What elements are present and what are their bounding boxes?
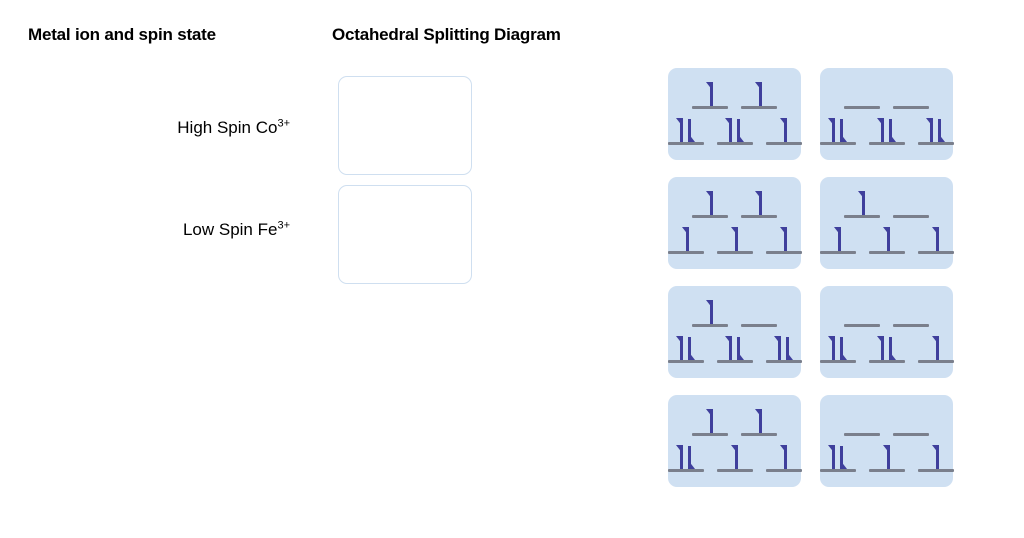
eg-orbital-row — [690, 190, 779, 218]
orbital-t2g-1 — [867, 117, 907, 145]
electron-group — [715, 335, 755, 360]
up-arrow-icon — [681, 227, 692, 251]
t2g-orbital-row — [818, 117, 956, 145]
up-arrow-icon — [705, 300, 716, 324]
orbital-t2g-2 — [916, 335, 956, 363]
orbital-t2g-1 — [715, 444, 755, 472]
orbital-eg-0 — [690, 81, 730, 109]
orbital-t2g-1 — [715, 226, 755, 254]
orbital-t2g-0 — [818, 117, 858, 145]
orbital-t2g-1 — [867, 444, 907, 472]
orbital-eg-0 — [842, 299, 882, 327]
empty-orbital-line-icon — [893, 215, 929, 218]
orbital-t2g-0 — [666, 444, 706, 472]
empty-orbital-line-icon — [820, 469, 856, 472]
empty-orbital-line-icon — [893, 433, 929, 436]
electron-group — [818, 226, 858, 251]
electron-group — [916, 226, 956, 251]
empty-orbital-line-icon — [717, 142, 753, 145]
orbital-t2g-2 — [916, 117, 956, 145]
orbital-eg-1 — [891, 81, 931, 109]
down-arrow-icon — [886, 336, 897, 360]
empty-orbital-line-icon — [820, 251, 856, 254]
up-arrow-icon — [931, 336, 942, 360]
row-label-low-spin-fe: Low Spin Fe3+ — [0, 220, 290, 240]
orbital-eg-1 — [739, 299, 779, 327]
orbital-t2g-2 — [764, 226, 804, 254]
empty-orbital-line-icon — [918, 142, 954, 145]
electron-group — [842, 190, 882, 215]
orbital-eg-0 — [842, 408, 882, 436]
up-arrow-icon — [931, 227, 942, 251]
electron-group — [916, 444, 956, 469]
column-header-octahedral-splitting-diagram: Octahedral Splitting Diagram — [332, 25, 561, 45]
electron-group — [818, 335, 858, 360]
empty-orbital-line-icon — [717, 251, 753, 254]
empty-orbital-line-icon — [766, 360, 802, 363]
up-arrow-icon — [705, 82, 716, 106]
answer-tile-7[interactable] — [668, 395, 801, 487]
down-arrow-icon — [783, 336, 794, 360]
empty-orbital-line-icon — [918, 251, 954, 254]
electron-group — [867, 226, 907, 251]
up-arrow-icon — [754, 409, 765, 433]
electron-group — [715, 226, 755, 251]
orbital-t2g-1 — [867, 226, 907, 254]
empty-orbital-line-icon — [820, 360, 856, 363]
answer-tile-4[interactable] — [820, 177, 953, 269]
electron-group — [818, 444, 858, 469]
empty-orbital-line-icon — [893, 324, 929, 327]
down-arrow-icon — [837, 336, 848, 360]
row-label-text: High Spin Co — [177, 118, 277, 137]
orbital-t2g-0 — [666, 226, 706, 254]
empty-orbital-line-icon — [668, 469, 704, 472]
electron-group — [690, 299, 730, 324]
electron-group — [739, 190, 779, 215]
drop-zone-high-spin-co[interactable] — [338, 76, 472, 175]
electron-group — [666, 335, 706, 360]
empty-orbital-line-icon — [766, 142, 802, 145]
orbital-t2g-2 — [916, 226, 956, 254]
electron-group — [764, 226, 804, 251]
electron-group — [916, 117, 956, 142]
up-arrow-icon — [754, 82, 765, 106]
t2g-orbital-row — [666, 444, 804, 472]
orbital-t2g-0 — [666, 335, 706, 363]
empty-orbital-line-icon — [893, 106, 929, 109]
electron-group — [764, 117, 804, 142]
t2g-orbital-row — [666, 117, 804, 145]
empty-orbital-line-icon — [692, 433, 728, 436]
empty-orbital-line-icon — [717, 469, 753, 472]
orbital-t2g-2 — [764, 335, 804, 363]
down-arrow-icon — [685, 118, 696, 142]
empty-orbital-line-icon — [844, 324, 880, 327]
electron-group — [818, 117, 858, 142]
orbital-t2g-1 — [715, 117, 755, 145]
empty-orbital-line-icon — [668, 142, 704, 145]
empty-orbital-line-icon — [692, 215, 728, 218]
electron-group — [666, 226, 706, 251]
empty-orbital-line-icon — [869, 360, 905, 363]
answer-tile-5[interactable] — [668, 286, 801, 378]
electron-group — [666, 444, 706, 469]
electron-group — [715, 117, 755, 142]
t2g-orbital-row — [666, 335, 804, 363]
up-arrow-icon — [730, 227, 741, 251]
electron-group — [715, 444, 755, 469]
up-arrow-icon — [779, 227, 790, 251]
eg-orbital-row — [690, 81, 779, 109]
orbital-eg-1 — [891, 190, 931, 218]
t2g-orbital-row — [818, 444, 956, 472]
row-label-high-spin-co: High Spin Co3+ — [0, 118, 290, 138]
empty-orbital-line-icon — [869, 142, 905, 145]
down-arrow-icon — [685, 445, 696, 469]
electron-group — [867, 444, 907, 469]
orbital-t2g-2 — [764, 444, 804, 472]
up-arrow-icon — [705, 191, 716, 215]
answer-tile-2[interactable] — [820, 68, 953, 160]
up-arrow-icon — [882, 445, 893, 469]
empty-orbital-line-icon — [741, 433, 777, 436]
eg-orbital-row — [842, 408, 931, 436]
orbital-t2g-0 — [666, 117, 706, 145]
answer-tile-6[interactable] — [820, 286, 953, 378]
empty-orbital-line-icon — [869, 469, 905, 472]
drop-zone-low-spin-fe[interactable] — [338, 185, 472, 284]
orbital-eg-0 — [690, 299, 730, 327]
electron-group — [867, 117, 907, 142]
t2g-orbital-row — [666, 226, 804, 254]
orbital-t2g-0 — [818, 335, 858, 363]
orbital-eg-0 — [690, 408, 730, 436]
eg-orbital-row — [690, 408, 779, 436]
answer-tile-1[interactable] — [668, 68, 801, 160]
up-arrow-icon — [931, 445, 942, 469]
electron-group — [867, 335, 907, 360]
orbital-t2g-0 — [818, 226, 858, 254]
empty-orbital-line-icon — [692, 324, 728, 327]
electron-group — [739, 81, 779, 106]
up-arrow-icon — [779, 445, 790, 469]
empty-orbital-line-icon — [741, 215, 777, 218]
orbital-eg-0 — [842, 81, 882, 109]
down-arrow-icon — [685, 336, 696, 360]
up-arrow-icon — [705, 409, 716, 433]
orbital-t2g-1 — [715, 335, 755, 363]
orbital-t2g-0 — [818, 444, 858, 472]
orbital-t2g-2 — [916, 444, 956, 472]
orbital-eg-1 — [739, 408, 779, 436]
empty-orbital-line-icon — [668, 360, 704, 363]
up-arrow-icon — [779, 118, 790, 142]
t2g-orbital-row — [818, 335, 956, 363]
eg-orbital-row — [842, 299, 931, 327]
answer-tile-palette — [668, 68, 952, 487]
orbital-eg-1 — [739, 81, 779, 109]
electron-group — [739, 408, 779, 433]
up-arrow-icon — [730, 445, 741, 469]
empty-orbital-line-icon — [766, 251, 802, 254]
empty-orbital-line-icon — [869, 251, 905, 254]
empty-orbital-line-icon — [668, 251, 704, 254]
eg-orbital-row — [842, 190, 931, 218]
answer-tile-3[interactable] — [668, 177, 801, 269]
empty-orbital-line-icon — [844, 215, 880, 218]
up-arrow-icon — [754, 191, 765, 215]
row-label-charge: 3+ — [277, 117, 290, 129]
orbital-t2g-1 — [867, 335, 907, 363]
orbital-eg-1 — [891, 408, 931, 436]
down-arrow-icon — [734, 336, 745, 360]
t2g-orbital-row — [818, 226, 956, 254]
electron-group — [764, 444, 804, 469]
empty-orbital-line-icon — [844, 433, 880, 436]
down-arrow-icon — [886, 118, 897, 142]
down-arrow-icon — [734, 118, 745, 142]
row-label-charge: 3+ — [277, 219, 290, 231]
empty-orbital-line-icon — [844, 106, 880, 109]
up-arrow-icon — [857, 191, 868, 215]
orbital-eg-1 — [739, 190, 779, 218]
eg-orbital-row — [842, 81, 931, 109]
empty-orbital-line-icon — [918, 360, 954, 363]
empty-orbital-line-icon — [766, 469, 802, 472]
down-arrow-icon — [935, 118, 946, 142]
up-arrow-icon — [882, 227, 893, 251]
orbital-eg-0 — [842, 190, 882, 218]
empty-orbital-line-icon — [820, 142, 856, 145]
empty-orbital-line-icon — [741, 324, 777, 327]
electron-group — [690, 81, 730, 106]
down-arrow-icon — [837, 445, 848, 469]
electron-group — [764, 335, 804, 360]
electron-group — [690, 190, 730, 215]
answer-tile-8[interactable] — [820, 395, 953, 487]
empty-orbital-line-icon — [741, 106, 777, 109]
electron-group — [916, 335, 956, 360]
empty-orbital-line-icon — [717, 360, 753, 363]
row-label-text: Low Spin Fe — [183, 220, 278, 239]
electron-group — [690, 408, 730, 433]
column-header-metal-ion: Metal ion and spin state — [28, 25, 216, 45]
orbital-eg-1 — [891, 299, 931, 327]
eg-orbital-row — [690, 299, 779, 327]
orbital-eg-0 — [690, 190, 730, 218]
orbital-t2g-2 — [764, 117, 804, 145]
empty-orbital-line-icon — [918, 469, 954, 472]
empty-orbital-line-icon — [692, 106, 728, 109]
up-arrow-icon — [833, 227, 844, 251]
down-arrow-icon — [837, 118, 848, 142]
electron-group — [666, 117, 706, 142]
